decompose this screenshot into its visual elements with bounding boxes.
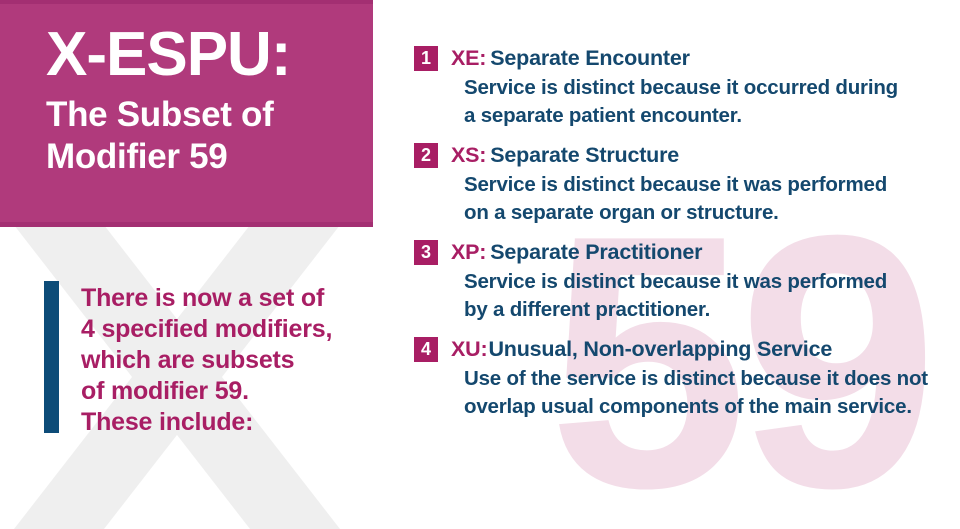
modifier-code-xu: XU:: [451, 337, 487, 361]
modifier-badge-4: 4: [414, 337, 438, 362]
modifier-item-xu-desc-line-1: Use of the service is distinct because i…: [464, 365, 950, 393]
modifier-item-xs-description: Service is distinct because it was perfo…: [464, 171, 950, 227]
modifier-item-xs-desc-line-2: on a separate organ or structure.: [464, 199, 950, 227]
intro-line-3: which are subsets: [81, 345, 332, 376]
modifier-item-xs: 2 XS:Separate Structure Service is disti…: [414, 143, 950, 227]
page-subtitle: The Subset of Modifier 59: [46, 94, 274, 178]
modifier-item-xu-description: Use of the service is distinct because i…: [464, 365, 950, 421]
modifier-badge-3: 3: [414, 240, 438, 265]
modifier-item-xu-desc-line-2: overlap usual components of the main ser…: [464, 393, 950, 421]
modifier-item-xe-title: XE:Separate Encounter: [451, 46, 690, 71]
intro-line-1: There is now a set of: [81, 283, 332, 314]
title-panel-bottom-strip: [0, 222, 373, 227]
modifier-item-xp-desc-line-2: by a different practitioner.: [464, 296, 950, 324]
modifier-code-xp: XP:: [451, 240, 486, 264]
modifier-name-xu: Unusual, Non-overlapping Service: [488, 337, 832, 361]
title-panel: X-ESPU: The Subset of Modifier 59: [0, 0, 373, 227]
modifier-item-xe-desc-line-1: Service is distinct because it occurred …: [464, 74, 950, 102]
page-title: X-ESPU:: [46, 22, 290, 88]
modifier-item-xe-head: 1 XE:Separate Encounter: [414, 46, 950, 71]
modifier-item-xp: 3 XP:Separate Practitioner Service is di…: [414, 240, 950, 324]
modifier-name-xp: Separate Practitioner: [490, 240, 702, 264]
intro-accent-bar: [44, 281, 59, 433]
modifier-item-xs-title: XS:Separate Structure: [451, 143, 679, 168]
intro-block: There is now a set of 4 specified modifi…: [44, 281, 332, 438]
modifier-list: 1 XE:Separate Encounter Service is disti…: [414, 46, 950, 421]
modifier-item-xp-title: XP:Separate Practitioner: [451, 240, 702, 265]
modifier-item-xp-head: 3 XP:Separate Practitioner: [414, 240, 950, 265]
modifier-item-xs-desc-line-1: Service is distinct because it was perfo…: [464, 171, 950, 199]
modifier-item-xu: 4 XU:Unusual, Non-overlapping Service Us…: [414, 337, 950, 421]
modifier-code-xs: XS:: [451, 143, 486, 167]
modifier-item-xp-description: Service is distinct because it was perfo…: [464, 268, 950, 324]
modifier-item-xe-desc-line-2: a separate patient encounter.: [464, 102, 950, 130]
modifier-item-xp-desc-line-1: Service is distinct because it was perfo…: [464, 268, 950, 296]
title-panel-top-strip: [0, 0, 373, 4]
modifier-item-xu-head: 4 XU:Unusual, Non-overlapping Service: [414, 337, 950, 362]
modifier-name-xe: Separate Encounter: [490, 46, 690, 70]
modifier-item-xs-head: 2 XS:Separate Structure: [414, 143, 950, 168]
modifier-name-xs: Separate Structure: [490, 143, 679, 167]
modifier-item-xu-title: XU:Unusual, Non-overlapping Service: [451, 337, 832, 362]
page-subtitle-line-2: Modifier 59: [46, 136, 274, 178]
intro-line-5: These include:: [81, 407, 332, 438]
modifier-item-xe-description: Service is distinct because it occurred …: [464, 74, 950, 130]
intro-text: There is now a set of 4 specified modifi…: [81, 281, 332, 438]
modifier-badge-1: 1: [414, 46, 438, 71]
page-subtitle-line-1: The Subset of: [46, 94, 274, 136]
modifier-item-xe: 1 XE:Separate Encounter Service is disti…: [414, 46, 950, 130]
intro-line-4: of modifier 59.: [81, 376, 332, 407]
modifier-code-xe: XE:: [451, 46, 486, 70]
intro-line-2: 4 specified modifiers,: [81, 314, 332, 345]
modifier-badge-2: 2: [414, 143, 438, 168]
infographic-canvas: 59 X-ESPU: The Subset of Modifier 59 The…: [0, 0, 960, 529]
